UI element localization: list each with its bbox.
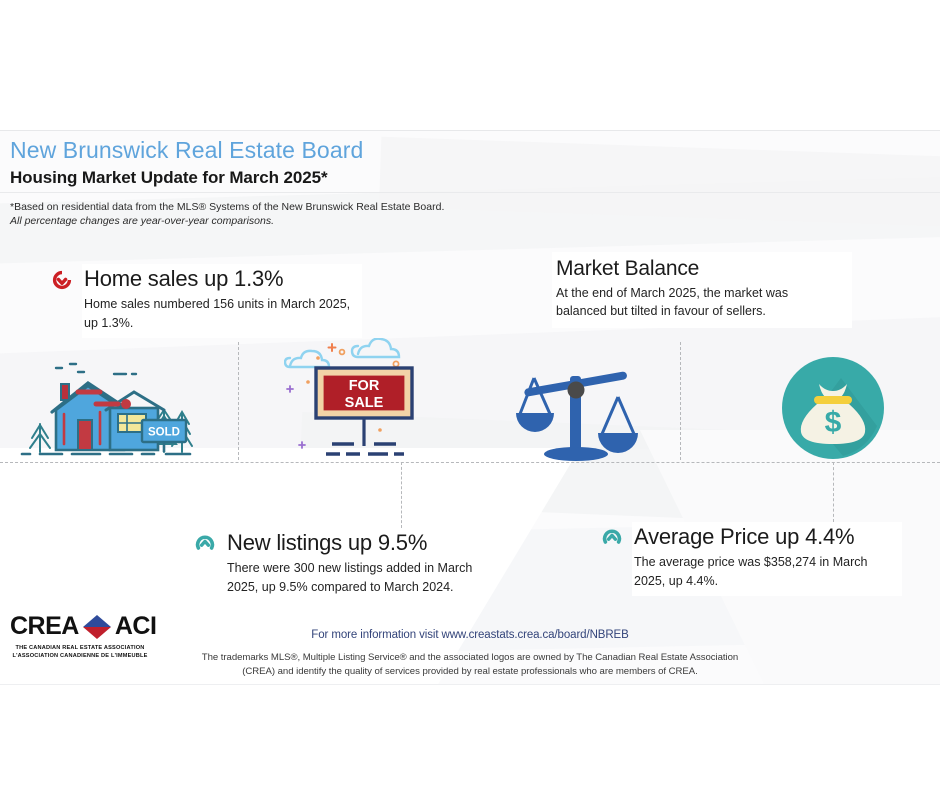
stat-body: Home sales numbered 156 units in March 2… [84,295,354,331]
stat-body: The average price was $358,274 in March … [634,553,894,589]
stat-home-sales: Home sales up 1.3% Home sales numbered 1… [52,264,362,338]
legal-disclaimer: The trademarks MLS®, Multiple Listing Se… [0,651,940,679]
more-info-link[interactable]: For more information visit www.creastats… [0,629,940,641]
connector-line-price-top [680,342,681,460]
balance-scale-icon [508,356,644,462]
stat-market-balance: Market Balance At the end of March 2025,… [552,252,852,328]
page-title: Housing Market Update for March 2025* [10,168,710,188]
legal-line-2: (CREA) and identify the quality of servi… [0,665,940,679]
stat-body: At the end of March 2025, the market was… [556,284,842,320]
stat-new-listings: New listings up 9.5% There were 300 new … [195,528,485,602]
legal-line-1: The trademarks MLS®, Multiple Listing Se… [0,651,940,665]
for-sale-line1: FOR [349,378,380,394]
arrow-up-circle-icon [52,270,72,295]
stat-title: New listings up 9.5% [227,530,477,556]
arrow-up-circle-icon [195,534,215,559]
for-sale-sign-illustration: FOR SALE [284,338,444,462]
top-divider [0,130,940,131]
sold-sign-text: SOLD [148,427,180,439]
stat-average-price: Average Price up 4.4% The average price … [602,522,902,596]
header-notes: *Based on residential data from the MLS®… [10,200,630,228]
house-sold-illustration: SOLD [14,352,210,464]
for-sale-line2: SALE [345,395,384,411]
header: New Brunswick Real Estate Board Housing … [10,138,710,188]
dollar-symbol: $ [825,406,842,439]
stat-title: Home sales up 1.3% [84,266,354,292]
infographic-canvas: New Brunswick Real Estate Board Housing … [0,0,940,788]
connector-line-listings-drop [401,462,402,528]
connector-line-listings-top [238,342,239,460]
money-bag-icon: $ [781,356,885,460]
stat-body: There were 300 new listings added in Mar… [227,559,477,595]
connector-line-price-drop [833,462,834,522]
board-name: New Brunswick Real Estate Board [10,138,710,164]
arrow-up-circle-icon [602,528,622,553]
data-source-note: *Based on residential data from the MLS®… [10,200,630,214]
comparison-note: All percentage changes are year-over-yea… [10,214,630,228]
header-rule [0,192,940,193]
bottom-divider [0,684,940,685]
stat-title: Market Balance [556,256,842,281]
stat-title: Average Price up 4.4% [634,524,894,550]
